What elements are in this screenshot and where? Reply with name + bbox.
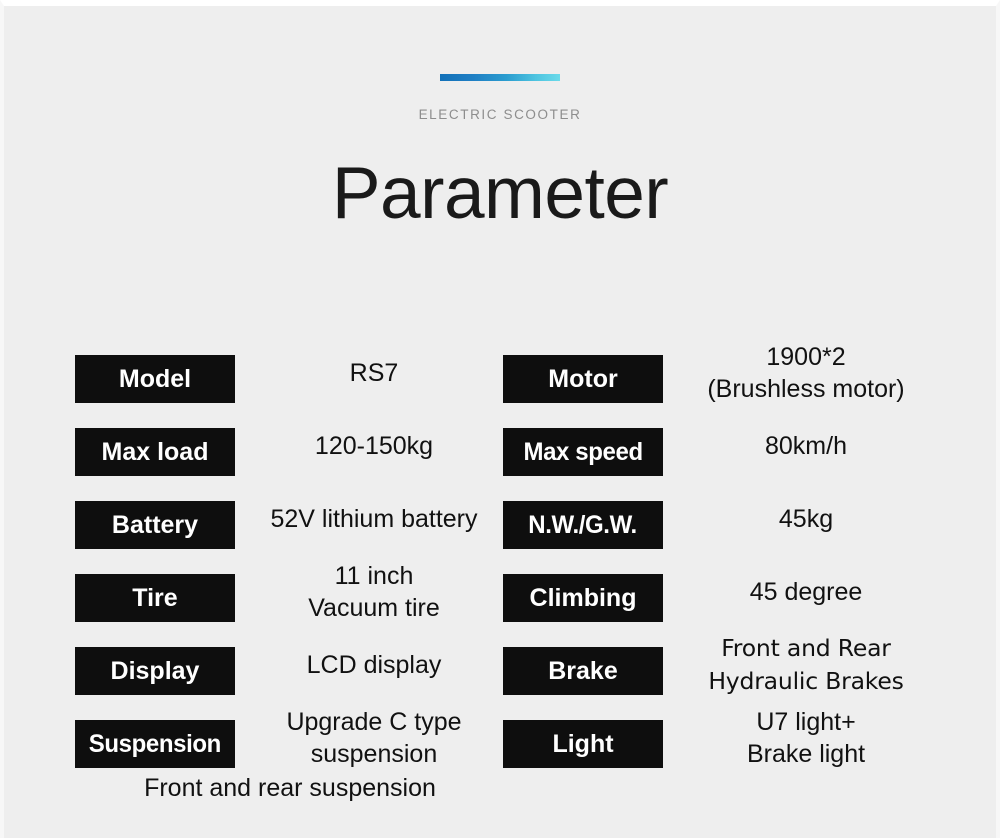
- spec-label-text: Max load: [102, 440, 209, 465]
- spec-label-text: Suspension: [89, 732, 221, 757]
- spec-label-text: Battery: [112, 513, 198, 538]
- spec-label-text: N.W./G.W.: [529, 513, 638, 538]
- spec-row: Max load 120-150kg: [75, 409, 505, 482]
- spec-label-text: Light: [552, 732, 613, 757]
- spec-row: N.W./G.W. 45kg: [503, 482, 933, 555]
- spec-value-nw-gw: 45kg: [679, 482, 933, 555]
- page-title: Parameter: [4, 157, 996, 230]
- spec-label-text: Motor: [548, 367, 617, 392]
- spec-row: Suspension Upgrade C type suspension: [75, 701, 505, 774]
- spec-row: Brake Front and Rear Hydraulic Brakes: [503, 628, 933, 701]
- spec-value-model: RS7: [243, 336, 505, 409]
- accent-bar-icon: [440, 74, 560, 81]
- spec-column-left: Model RS7 Max load 120-150kg Battery 52V…: [75, 336, 505, 774]
- spec-value-tire: 11 inch Vacuum tire: [243, 555, 505, 628]
- spec-row: Battery 52V lithium battery: [75, 482, 505, 555]
- spec-label-text: Tire: [132, 586, 177, 611]
- spec-label-text: Brake: [548, 659, 618, 684]
- spec-column-right: Motor 1900*2 (Brushless motor) Max speed…: [503, 336, 933, 774]
- spec-label-tire: Tire: [75, 574, 235, 622]
- spec-label-battery: Battery: [75, 501, 235, 549]
- spec-label-brake: Brake: [503, 647, 663, 695]
- header: ELECTRIC SCOOTER Parameter: [4, 6, 996, 230]
- spec-value-climbing: 45 degree: [679, 555, 933, 628]
- spec-label-max-load: Max load: [75, 428, 235, 476]
- spec-row: Model RS7: [75, 336, 505, 409]
- spec-label-motor: Motor: [503, 355, 663, 403]
- spec-label-max-speed: Max speed: [503, 428, 663, 476]
- spec-label-text: Max speed: [523, 440, 642, 465]
- spec-row: Tire 11 inch Vacuum tire: [75, 555, 505, 628]
- spec-row: Motor 1900*2 (Brushless motor): [503, 336, 933, 409]
- spec-label-text: Model: [119, 367, 191, 392]
- spec-value-brake: Front and Rear Hydraulic Brakes: [679, 628, 933, 701]
- spec-label-suspension: Suspension: [75, 720, 235, 768]
- spec-label-text: Climbing: [530, 586, 637, 611]
- spec-row: Max speed 80km/h: [503, 409, 933, 482]
- spec-label-text: Display: [111, 659, 200, 684]
- spec-label-display: Display: [75, 647, 235, 695]
- spec-label-climbing: Climbing: [503, 574, 663, 622]
- spec-label-nw-gw: N.W./G.W.: [503, 501, 663, 549]
- spec-sheet-page: ELECTRIC SCOOTER Parameter Model RS7 Max…: [0, 0, 1000, 838]
- spec-value-suspension: Upgrade C type suspension: [243, 701, 505, 774]
- eyebrow-label: ELECTRIC SCOOTER: [4, 108, 996, 122]
- spec-value-motor: 1900*2 (Brushless motor): [679, 336, 933, 409]
- spec-value-display: LCD display: [243, 628, 505, 701]
- spec-value-light: U7 light+ Brake light: [679, 701, 933, 774]
- spec-row: Light U7 light+ Brake light: [503, 701, 933, 774]
- spec-value-max-speed: 80km/h: [679, 409, 933, 482]
- spec-value-battery: 52V lithium battery: [243, 482, 505, 555]
- spec-row: Display LCD display: [75, 628, 505, 701]
- suspension-footnote: Front and rear suspension: [75, 776, 505, 801]
- spec-row: Climbing 45 degree: [503, 555, 933, 628]
- spec-label-model: Model: [75, 355, 235, 403]
- spec-grid: Model RS7 Max load 120-150kg Battery 52V…: [4, 336, 996, 836]
- spec-label-light: Light: [503, 720, 663, 768]
- spec-value-max-load: 120-150kg: [243, 409, 505, 482]
